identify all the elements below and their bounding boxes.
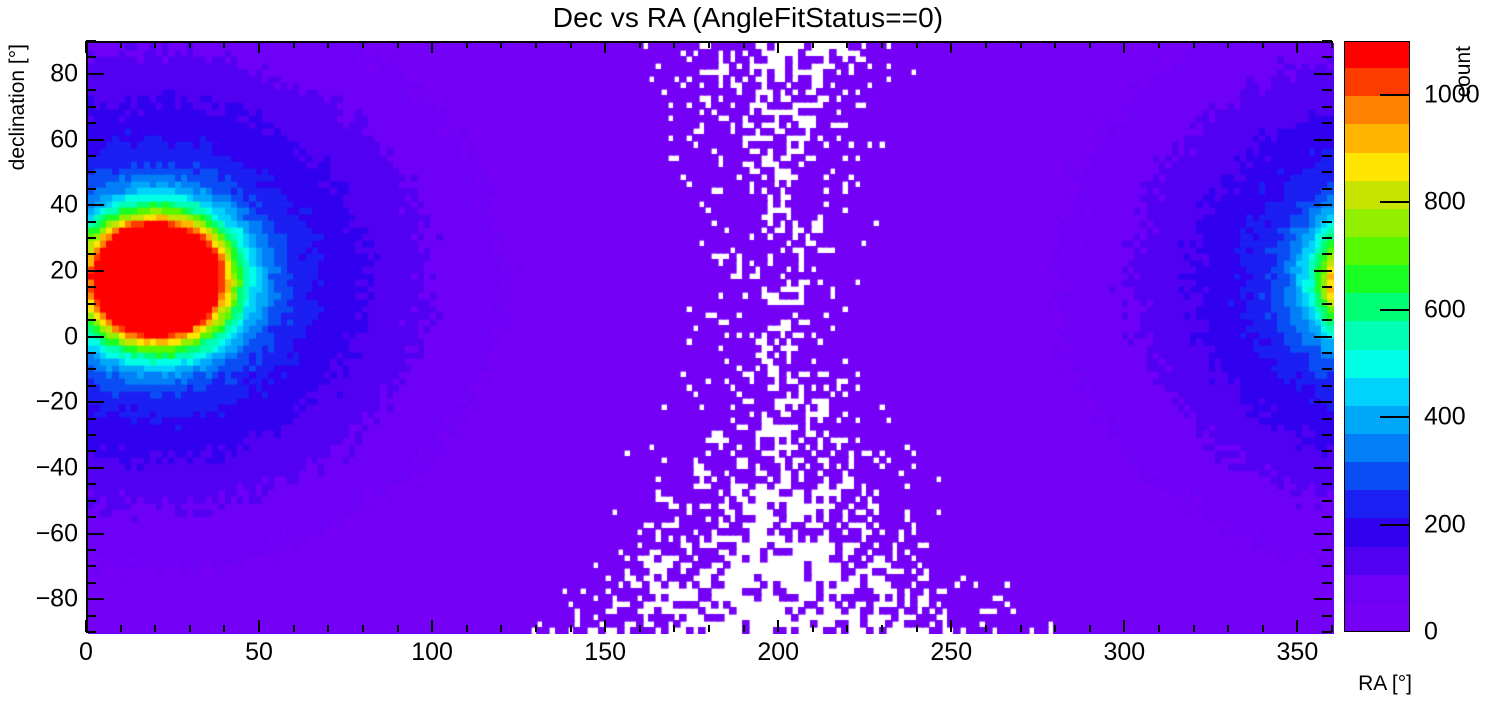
palette-band <box>1345 95 1409 124</box>
color-scale-tick <box>1380 524 1410 526</box>
color-scale-tick <box>1380 94 1410 96</box>
y-tick-label: −40 <box>36 453 78 482</box>
y-tick-label: −80 <box>36 585 78 614</box>
palette-band <box>1345 123 1409 152</box>
y-axis-title: declination [°] <box>6 44 30 170</box>
color-scale-tick-label: 200 <box>1424 510 1466 539</box>
y-tick-label: −60 <box>36 519 78 548</box>
palette-band <box>1345 349 1409 378</box>
x-tick-label: 250 <box>930 638 972 667</box>
palette-band <box>1345 236 1409 265</box>
palette-band <box>1345 41 1409 68</box>
x-tick-label: 100 <box>411 638 453 667</box>
x-tick-label: 300 <box>1103 638 1145 667</box>
color-scale-tick <box>1380 416 1410 418</box>
y-tick-label: 40 <box>50 191 78 220</box>
y-tick-label: 80 <box>50 59 78 88</box>
palette-band <box>1345 320 1409 349</box>
palette-band <box>1345 489 1409 518</box>
palette-band <box>1345 67 1409 96</box>
palette-band <box>1345 405 1409 434</box>
color-scale-tick-label: 800 <box>1424 188 1466 217</box>
color-scale-tick <box>1380 201 1410 203</box>
color-scale-tick-label: 1000 <box>1424 80 1480 109</box>
y-tick-label: −20 <box>36 388 78 417</box>
color-scale-tick-label: 400 <box>1424 403 1466 432</box>
x-tick-label: 200 <box>757 638 799 667</box>
x-tick-label: 0 <box>79 638 93 667</box>
color-scale-tick-label: 0 <box>1424 618 1438 647</box>
palette-band <box>1345 461 1409 490</box>
y-tick-label: 20 <box>50 256 78 285</box>
x-tick-label: 50 <box>245 638 273 667</box>
palette-band <box>1345 377 1409 406</box>
color-scale-tick-label: 600 <box>1424 295 1466 324</box>
y-tick-label: 0 <box>64 322 78 351</box>
palette-band <box>1345 602 1409 631</box>
palette-band <box>1345 433 1409 462</box>
color-scale-tick <box>1380 309 1410 311</box>
plot-title: Dec vs RA (AngleFitStatus==0) <box>0 2 1496 34</box>
color-scale-bar <box>1344 41 1410 632</box>
palette-band <box>1345 292 1409 321</box>
palette-band <box>1345 152 1409 181</box>
x-axis-title: RA [°] <box>1358 672 1412 696</box>
palette-band <box>1345 574 1409 603</box>
x-tick-label: 150 <box>584 638 626 667</box>
y-tick-label: 60 <box>50 125 78 154</box>
palette-band <box>1345 208 1409 237</box>
x-tick-label: 350 <box>1277 638 1319 667</box>
plot-canvas-root: Dec vs RA (AngleFitStatus==0) 0501001502… <box>0 0 1496 722</box>
palette-band <box>1345 546 1409 575</box>
histogram-2d <box>88 43 1334 634</box>
palette-band <box>1345 517 1409 546</box>
palette-band <box>1345 180 1409 209</box>
palette-band <box>1345 264 1409 293</box>
plot-frame <box>86 41 1332 632</box>
